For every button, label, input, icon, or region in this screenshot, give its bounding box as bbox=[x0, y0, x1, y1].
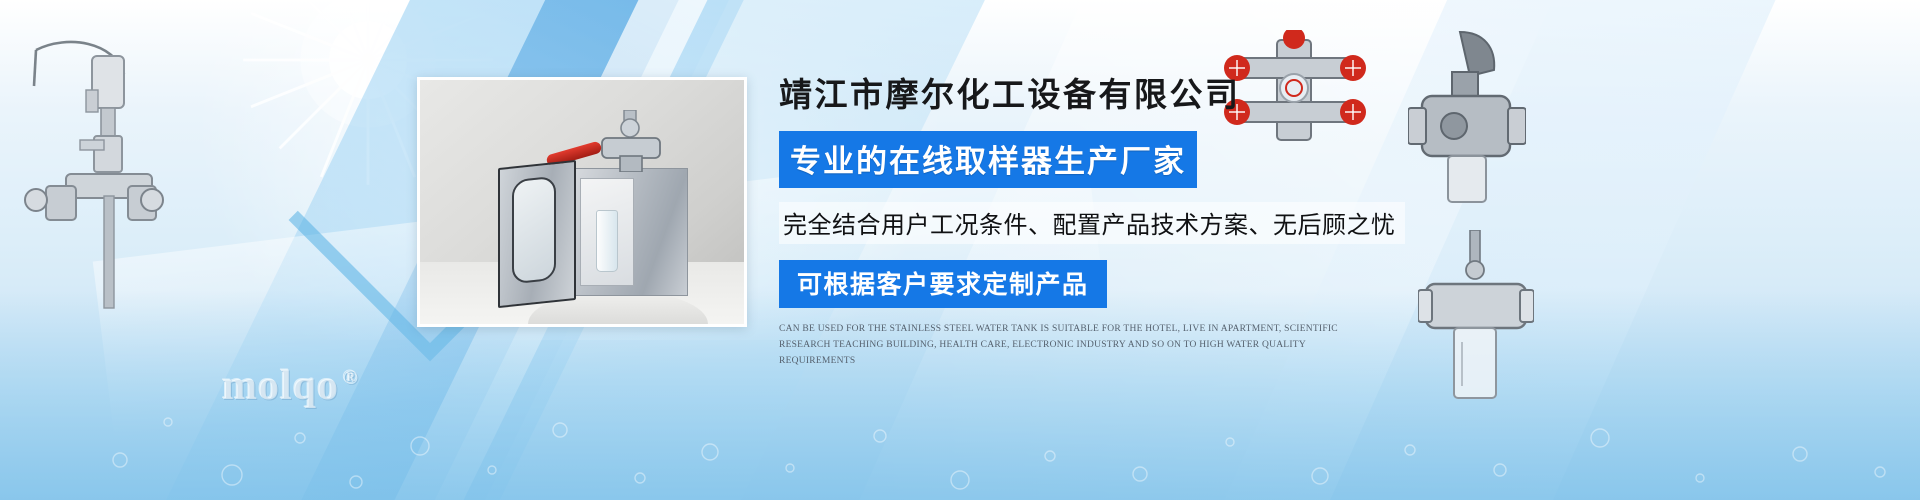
banner-text-column: 靖江市摩尔化工设备有限公司 专业的在线取样器生产厂家 完全结合用户工况条件、配置… bbox=[779, 74, 1399, 370]
photo-valve-head-icon bbox=[596, 110, 666, 172]
watermark-logo: molqo® bbox=[222, 362, 359, 410]
english-description: CAN BE USED FOR THE STAINLESS STEEL WATE… bbox=[779, 321, 1379, 370]
control-valve-icon bbox=[1408, 28, 1526, 208]
ball-valve-icon bbox=[1418, 230, 1534, 410]
watermark-text: molqo bbox=[222, 363, 339, 409]
watermark-registered-mark: ® bbox=[343, 367, 359, 389]
page-title: 靖江市摩尔化工设备有限公司 bbox=[779, 74, 1399, 119]
wall-mounted-sampler-icon bbox=[6, 28, 176, 328]
tagline-sub: 完全结合用户工况条件、配置产品技术方案、无后顾之忧 bbox=[779, 202, 1405, 244]
tagline-custom: 可根据客户要求定制产品 bbox=[779, 260, 1107, 308]
product-photo bbox=[417, 77, 747, 327]
promo-banner: 靖江市摩尔化工设备有限公司 专业的在线取样器生产厂家 完全结合用户工况条件、配置… bbox=[0, 0, 1920, 500]
tagline-main: 专业的在线取样器生产厂家 bbox=[779, 131, 1197, 188]
